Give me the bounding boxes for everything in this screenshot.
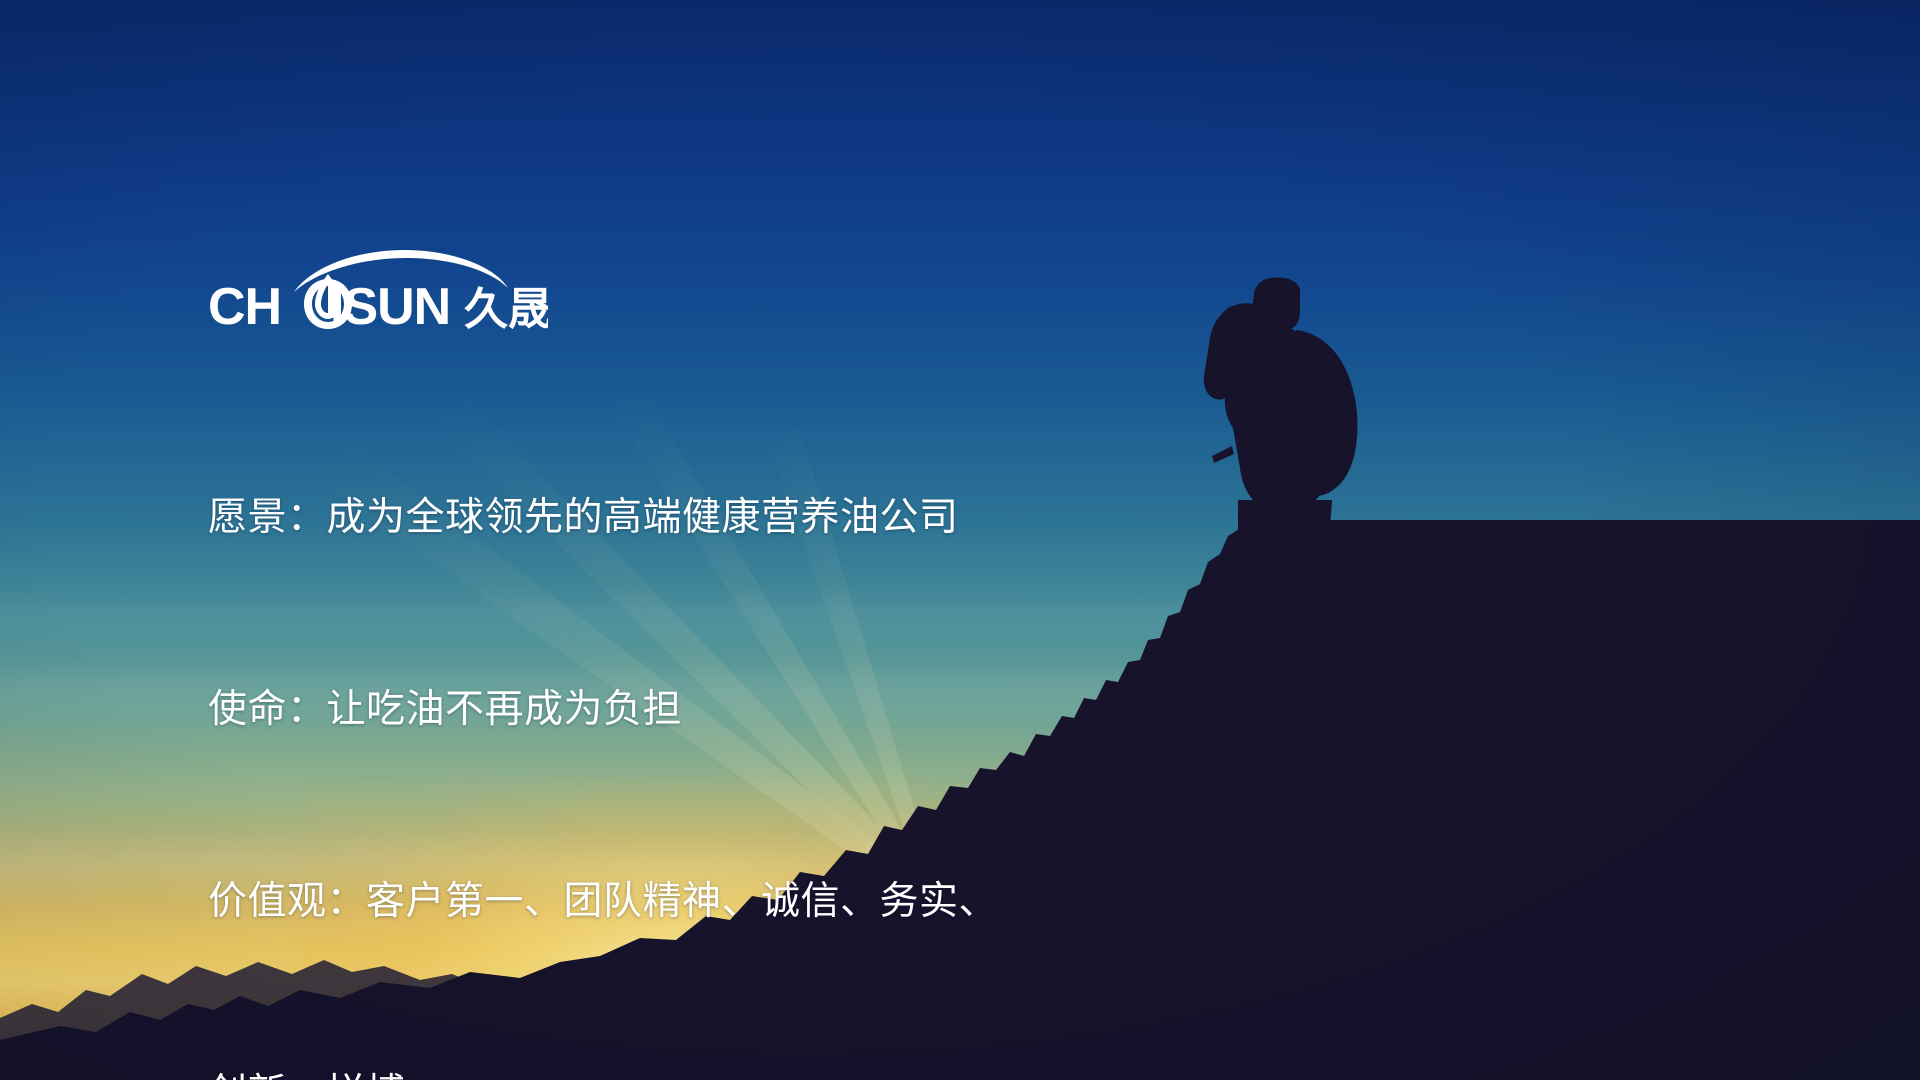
mission-line-cn: 使命：让吃油不再成为负担 xyxy=(208,678,1208,742)
content-block: CH ISUN 久晟 愿景：成为全球领先的高端健康营养油公司 使命：让吃油不再成… xyxy=(208,248,1208,1080)
values-line-cn-2: 创新、拼搏 xyxy=(208,1062,1208,1080)
statements-chinese: 愿景：成为全球领先的高端健康营养油公司 使命：让吃油不再成为负担 价值观：客户第… xyxy=(208,358,1208,1080)
logo-text-ch: CH xyxy=(208,278,281,330)
values-line-cn-1: 价值观：客户第一、团队精神、诚信、务实、 xyxy=(208,870,1208,934)
brand-logo[interactable]: CH ISUN 久晟 xyxy=(208,248,548,328)
vision-line-cn: 愿景：成为全球领先的高端健康营养油公司 xyxy=(208,486,1208,550)
slide-canvas: CH ISUN 久晟 愿景：成为全球领先的高端健康营养油公司 使命：让吃油不再成… xyxy=(0,0,1920,1080)
logo-text-cn: 久晟 xyxy=(464,284,548,330)
choisun-logo-mark: CH ISUN 久晟 xyxy=(208,248,548,330)
